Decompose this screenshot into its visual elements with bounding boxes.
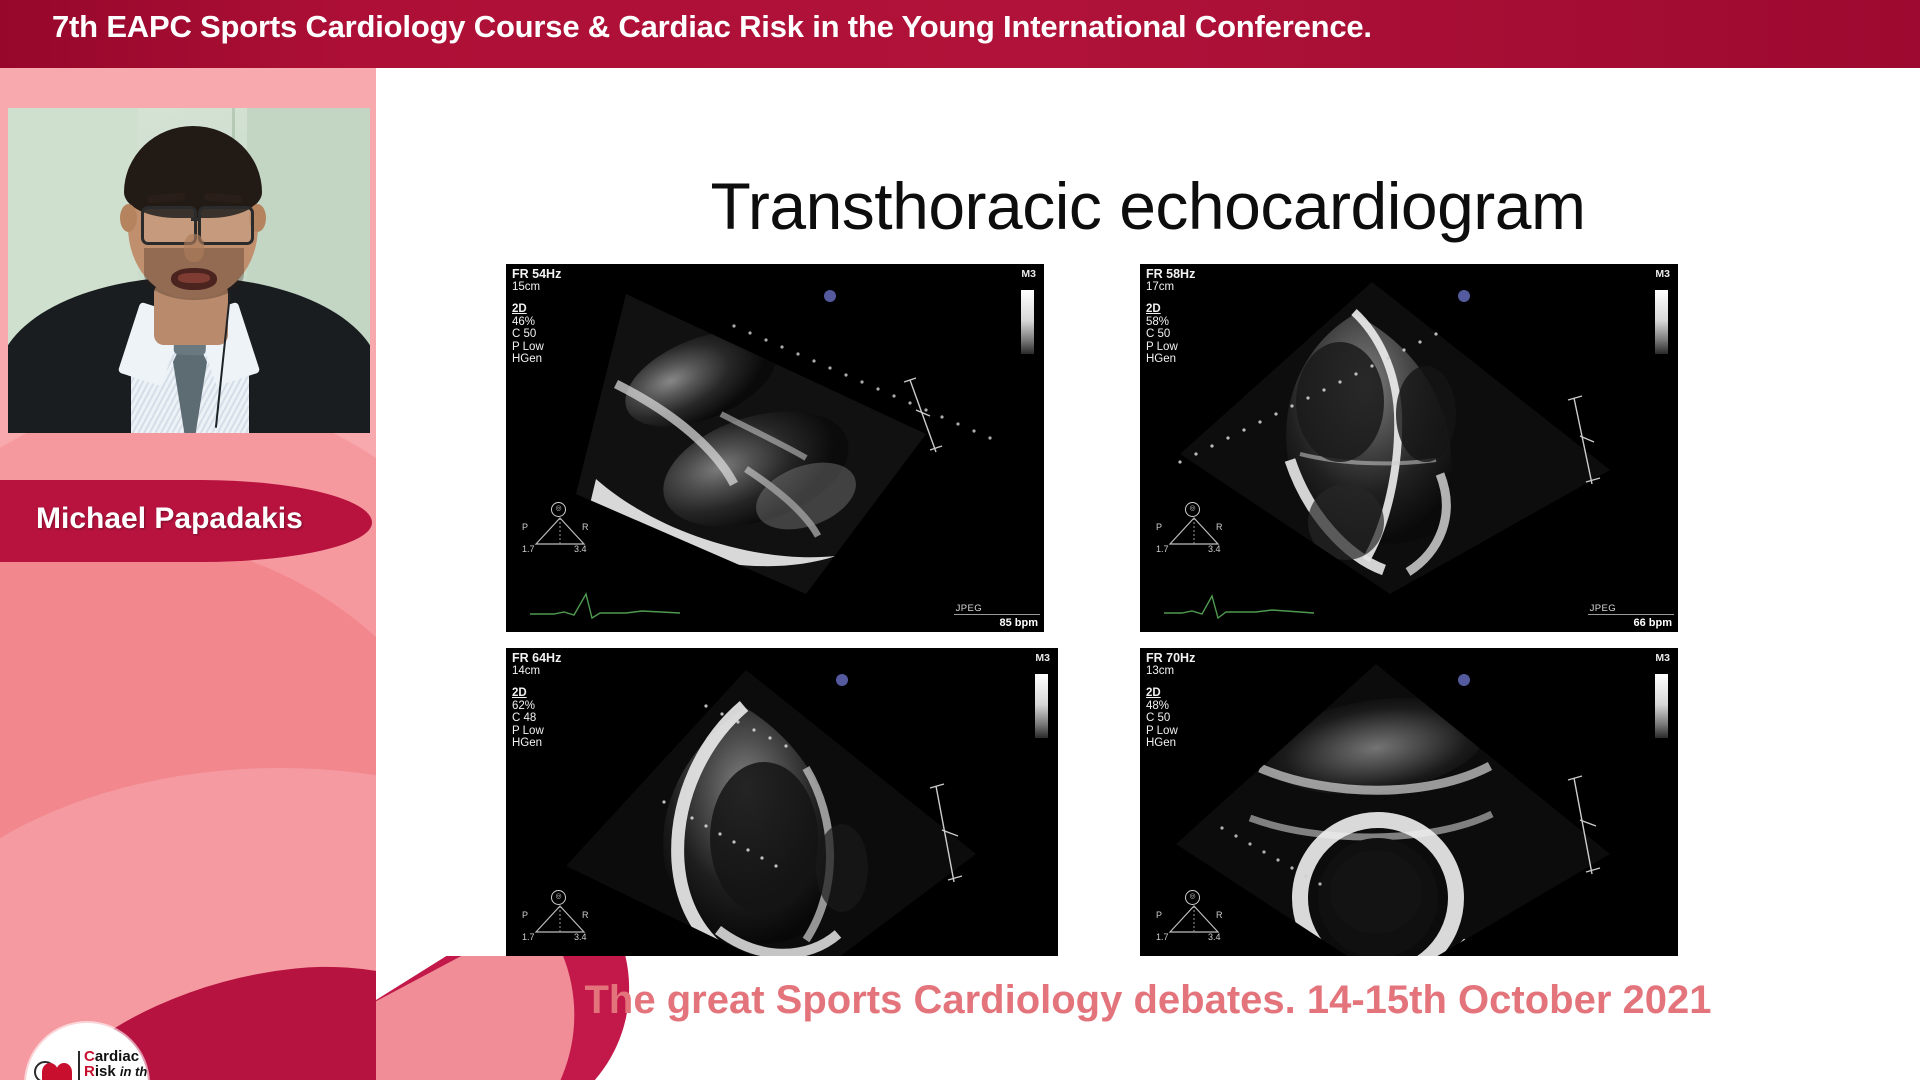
echo-frame-rate: FR 70Hz	[1146, 652, 1195, 665]
orientation-triangle-icon	[534, 904, 586, 934]
echo-depth: 15cm	[512, 281, 561, 294]
echo-mode: 2D	[512, 303, 561, 316]
echo-frame-rate: FR 64Hz	[512, 652, 561, 665]
echo-greyscale-bar	[1655, 290, 1668, 354]
echo-header-bottom-right: FR 70Hz 13cm 2D 48% C 50 P Low HGen	[1146, 652, 1195, 750]
echo-orientation-indicator: ◎ P R 1.7 3.4	[1156, 502, 1228, 558]
orientation-triangle-icon	[1168, 904, 1220, 934]
echo-ecg-trace	[530, 588, 680, 622]
echo-greyscale-bar	[1035, 674, 1048, 738]
echo-probe-marker	[1458, 290, 1470, 302]
banner-title: 7th EAPC Sports Cardiology Course & Card…	[52, 9, 1872, 45]
heart-icon	[42, 1071, 72, 1080]
speaker-glasses-right-lens	[198, 206, 254, 245]
echo-compress: C 50	[1146, 328, 1195, 341]
echo-gain: 58%	[1146, 316, 1195, 329]
echo-sector-a4c	[1140, 264, 1678, 632]
echo-gain: 48%	[1146, 700, 1195, 713]
echo-depth: 14cm	[512, 665, 561, 678]
logo-line-2-italic: in the	[120, 1064, 148, 1079]
echo-gain: 62%	[512, 700, 561, 713]
echo-preset: HGen	[512, 353, 561, 366]
echo-frame-rate: FR 54Hz	[512, 268, 561, 281]
echo-preset: HGen	[1146, 353, 1195, 366]
speaker-ear-left	[120, 204, 137, 232]
echo-depth: 17cm	[1146, 281, 1195, 294]
echo-compress: C 50	[512, 328, 561, 341]
orientation-rotation-icon: ◎	[1185, 502, 1200, 517]
speaker-mouth-inner	[178, 273, 210, 283]
logo-line-1: Cardiac	[84, 1049, 148, 1064]
orientation-right-label: R	[582, 910, 589, 920]
speaker-webcam-video[interactable]	[8, 108, 370, 433]
orientation-left-label: P	[1156, 522, 1162, 532]
echo-header-top-right: FR 58Hz 17cm 2D 58% C 50 P Low HGen	[1146, 268, 1195, 366]
speaker-hair	[124, 126, 262, 218]
orientation-triangle-icon	[534, 516, 586, 546]
orientation-scale-left: 1.7	[1156, 932, 1169, 942]
orientation-scale-right: 3.4	[1208, 544, 1221, 554]
speaker-panel: Michael Papadakis Cardiac Risk in the Yo…	[0, 68, 376, 1080]
footer-text: The great Sports Cardiology debates. 14-…	[376, 978, 1920, 1023]
echo-compress: C 48	[512, 712, 561, 725]
orientation-rotation-icon: ◎	[551, 890, 566, 905]
echo-power: P Low	[1146, 725, 1195, 738]
orientation-right-label: R	[1216, 522, 1223, 532]
orientation-scale-left: 1.7	[1156, 544, 1169, 554]
echo-power: P Low	[512, 725, 561, 738]
echo-probe-marker	[836, 674, 848, 686]
echo-image-top-left[interactable]: FR 54Hz 15cm 2D 46% C 50 P Low HGen M3 ◎	[506, 264, 1044, 632]
echo-orientation-indicator: ◎ P R 1.7 3.4	[1156, 890, 1228, 946]
echo-bpm-divider	[1588, 614, 1674, 615]
orientation-scale-left: 1.7	[522, 544, 535, 554]
slide-title: Transthoracic echocardiogram	[376, 168, 1920, 244]
logo-line-2: Risk in the	[84, 1064, 148, 1079]
echo-header-bottom-left: FR 64Hz 14cm 2D 62% C 48 P Low HGen	[512, 652, 561, 750]
orientation-right-label: R	[1216, 910, 1223, 920]
echo-orientation-indicator: ◎ P R 1.7 3.4	[522, 502, 594, 558]
echo-mode: 2D	[512, 687, 561, 700]
echo-mode: 2D	[1146, 303, 1195, 316]
orientation-rotation-icon: ◎	[1185, 890, 1200, 905]
echo-preset: HGen	[512, 737, 561, 750]
echo-preset: HGen	[1146, 737, 1195, 750]
echo-greyscale-bar	[1021, 290, 1034, 354]
orientation-scale-right: 3.4	[1208, 932, 1221, 942]
echo-gain: 46%	[512, 316, 561, 329]
echo-ecg-trace	[1164, 588, 1314, 622]
orientation-right-label: R	[582, 522, 589, 532]
echo-header-top-left: FR 54Hz 15cm 2D 46% C 50 P Low HGen	[512, 268, 561, 366]
orientation-left-label: P	[1156, 910, 1162, 920]
orientation-left-label: P	[522, 522, 528, 532]
echo-frame-rate: FR 58Hz	[1146, 268, 1195, 281]
logo-divider	[78, 1051, 80, 1080]
logo-line-2-rest: isk	[95, 1063, 116, 1080]
echo-power: P Low	[512, 341, 561, 354]
echocardiogram-image-grid: FR 54Hz 15cm 2D 46% C 50 P Low HGen M3 ◎	[438, 264, 1858, 1014]
echo-heart-rate: 66 bpm	[1633, 617, 1672, 629]
speaker-name-badge: Michael Papadakis	[0, 480, 372, 562]
logo-wordmark: Cardiac Risk in the Young	[84, 1049, 148, 1080]
conference-banner: 7th EAPC Sports Cardiology Course & Card…	[0, 0, 1920, 68]
slide-footer: The great Sports Cardiology debates. 14-…	[376, 956, 1920, 1080]
echo-sector-plax	[506, 264, 1044, 632]
echo-transducer-label: M3	[1655, 652, 1670, 664]
echo-greyscale-bar	[1655, 674, 1668, 738]
echo-transducer-label: M3	[1655, 268, 1670, 280]
slide-content: Transthoracic echocardiogram	[376, 68, 1920, 956]
orientation-scale-left: 1.7	[522, 932, 535, 942]
speaker-glasses-bridge	[191, 218, 200, 221]
orientation-left-label: P	[522, 910, 528, 920]
echo-format-label: JPEG	[1590, 603, 1616, 614]
logo-line-2-cap: R	[84, 1063, 95, 1080]
orientation-triangle-icon	[1168, 516, 1220, 546]
echo-bpm-divider	[954, 614, 1040, 615]
speaker-nose	[184, 234, 204, 262]
echo-mode: 2D	[1146, 687, 1195, 700]
echo-transducer-label: M3	[1021, 268, 1036, 280]
echo-compress: C 50	[1146, 712, 1195, 725]
echo-image-top-right[interactable]: FR 58Hz 17cm 2D 58% C 50 P Low HGen M3 ◎	[1140, 264, 1678, 632]
echo-probe-marker	[1458, 674, 1470, 686]
echo-heart-rate: 85 bpm	[999, 617, 1038, 629]
echo-orientation-indicator: ◎ P R 1.7 3.4	[522, 890, 594, 946]
speaker-name: Michael Papadakis	[36, 502, 303, 536]
cry-heart-mascot-icon	[36, 1059, 82, 1080]
orientation-scale-right: 3.4	[574, 544, 587, 554]
orientation-scale-right: 3.4	[574, 932, 587, 942]
echo-transducer-label: M3	[1035, 652, 1050, 664]
echo-probe-marker	[824, 290, 836, 302]
echo-format-label: JPEG	[956, 603, 982, 614]
echo-power: P Low	[1146, 341, 1195, 354]
echo-depth: 13cm	[1146, 665, 1195, 678]
presentation-screen: 7th EAPC Sports Cardiology Course & Card…	[0, 0, 1920, 1080]
orientation-rotation-icon: ◎	[551, 502, 566, 517]
